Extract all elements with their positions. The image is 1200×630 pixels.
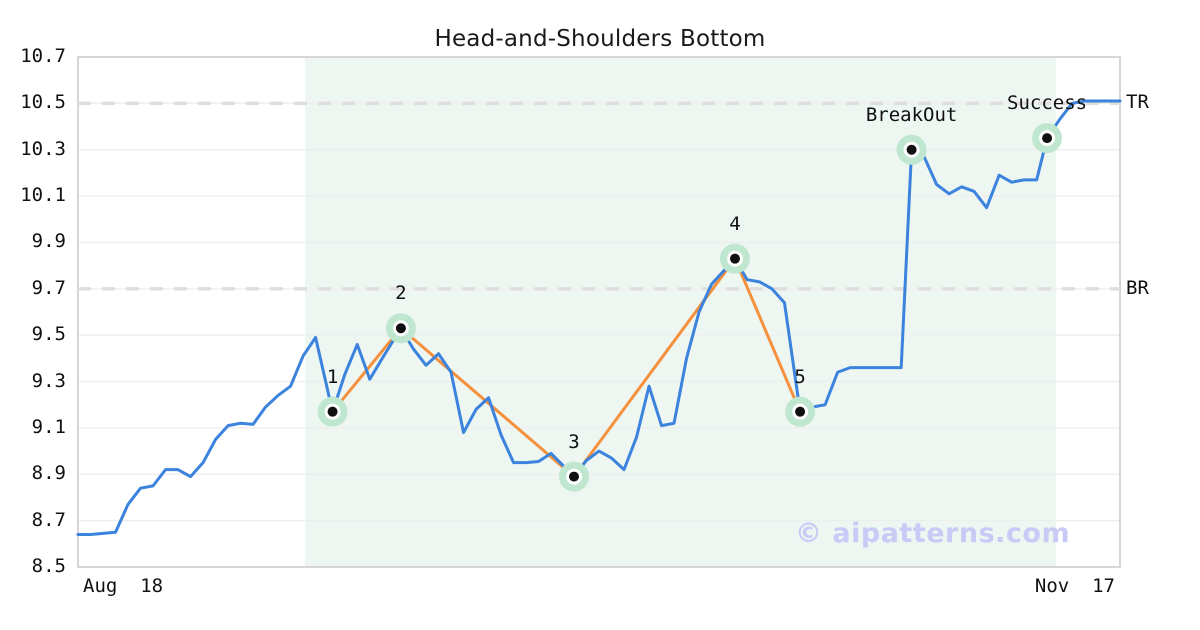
level-label-br: BR [1126,277,1149,299]
y-axis-tick-10-5: 10.5 [20,91,66,113]
annotation-label-point-1: 1 [327,366,338,388]
y-axis-tick-10-3: 10.3 [20,138,66,160]
marker-dot-point-2[interactable] [396,323,406,333]
y-axis-tick-9-1: 9.1 [32,416,66,438]
x-axis-tick-start: Aug 18 [83,575,163,597]
annotation-label-point-5: 5 [794,366,805,388]
marker-dot-point-1[interactable] [328,407,338,417]
y-axis-tick-8-5: 8.5 [32,555,66,577]
highlight-band [305,58,1056,567]
y-axis-tick-10-7: 10.7 [20,45,66,67]
y-axis-tick-9-7: 9.7 [32,277,66,299]
marker-dot-point-5[interactable] [795,407,805,417]
y-axis-tick-10-1: 10.1 [20,184,66,206]
x-axis-tick-end: Nov 17 [1035,575,1115,597]
y-axis-tick-9-9: 9.9 [32,230,66,252]
marker-dot-point-4[interactable] [730,254,740,264]
watermark: © aipatterns.com [795,518,1070,549]
annotation-label-success: Success [1007,92,1087,114]
y-axis-tick-8-7: 8.7 [32,509,66,531]
marker-dot-success[interactable] [1042,133,1052,143]
y-axis-tick-8-9: 8.9 [32,462,66,484]
chart-canvas: Head-and-Shoulders Bottom © aipatterns.c… [0,0,1200,630]
level-label-tr: TR [1126,91,1149,113]
annotation-label-point-2: 2 [395,282,406,304]
y-axis-tick-9-5: 9.5 [32,323,66,345]
marker-dot-point-3[interactable] [569,472,579,482]
annotation-label-breakout: BreakOut [866,104,958,126]
annotation-label-point-4: 4 [729,213,740,235]
y-axis-tick-9-3: 9.3 [32,370,66,392]
marker-dot-breakout[interactable] [907,145,917,155]
annotation-label-point-3: 3 [568,431,579,453]
